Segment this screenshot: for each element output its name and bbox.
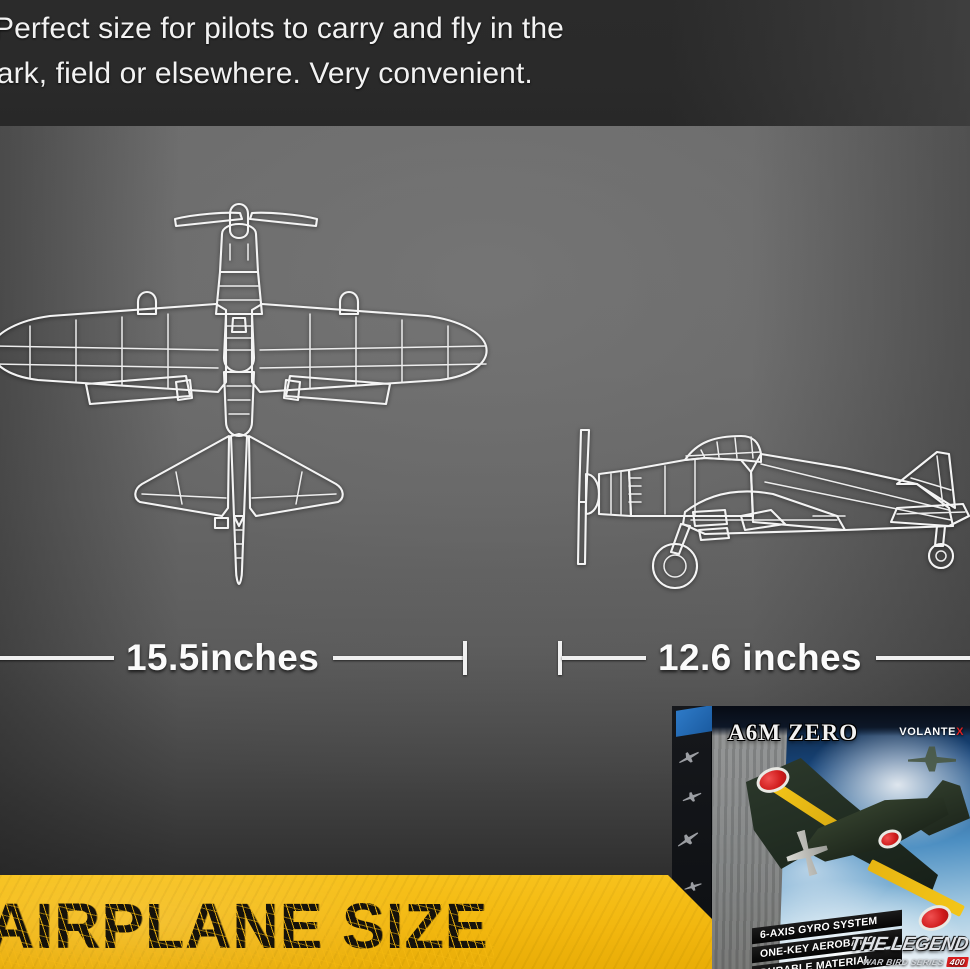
airplane-size-infographic: Perfect size for pilots to carry and fly… — [0, 0, 970, 969]
product-box: A6M ZERO VOLANTEX 6-AXIS GYRO SYSTEM ONE… — [672, 706, 970, 969]
box-front-face: A6M ZERO VOLANTEX 6-AXIS GYRO SYSTEM ONE… — [712, 706, 970, 969]
box-series-badge: 400 — [946, 957, 969, 967]
box-spine-blue-strip — [676, 706, 712, 737]
header-description: Perfect size for pilots to carry and fly… — [0, 6, 754, 96]
box-model-name: A6M ZERO — [728, 720, 858, 746]
banner-title: AIRPLANE SIZE — [0, 889, 488, 963]
box-series-subtitle: WAR BIRD SERIES — [862, 957, 945, 967]
dimension-label-side-view: 12.6 inches — [658, 637, 862, 679]
dimension-rule-left — [562, 656, 646, 660]
dimension-top-view: 15.5inches — [0, 636, 520, 680]
brand-accent-letter: X — [956, 726, 964, 738]
dimension-side-view: 12.6 inches — [558, 636, 970, 680]
box-series-subtitle-row: WAR BIRD SERIES400 — [847, 957, 969, 967]
dimension-rule-left — [0, 656, 114, 660]
dimension-rule-right — [333, 656, 463, 660]
dimension-tick-right — [463, 641, 467, 675]
spine-plane-silhouette — [683, 879, 703, 893]
spine-plane-silhouette — [675, 828, 701, 851]
plane-side-view-icon — [545, 412, 970, 602]
header-line-1: Perfect size for pilots to carry and fly… — [0, 6, 754, 51]
spine-plane-silhouette — [681, 789, 703, 806]
box-series-branding: THE LEGEND WAR BIRD SERIES400 — [848, 934, 968, 967]
brand-name: VOLANTE — [899, 726, 956, 738]
dimension-label-top-view: 15.5inches — [126, 637, 319, 679]
box-brand-logo: VOLANTEX — [899, 726, 964, 738]
header-line-2: park, field or elsewhere. Very convenien… — [0, 51, 754, 96]
plane-top-view-icon — [0, 186, 530, 616]
spine-plane-silhouette — [677, 747, 702, 767]
airplane-size-banner: AIRPLANE SIZE — [0, 875, 712, 969]
box-series-title: THE LEGEND — [846, 934, 970, 956]
dimension-rule-right — [876, 656, 970, 660]
